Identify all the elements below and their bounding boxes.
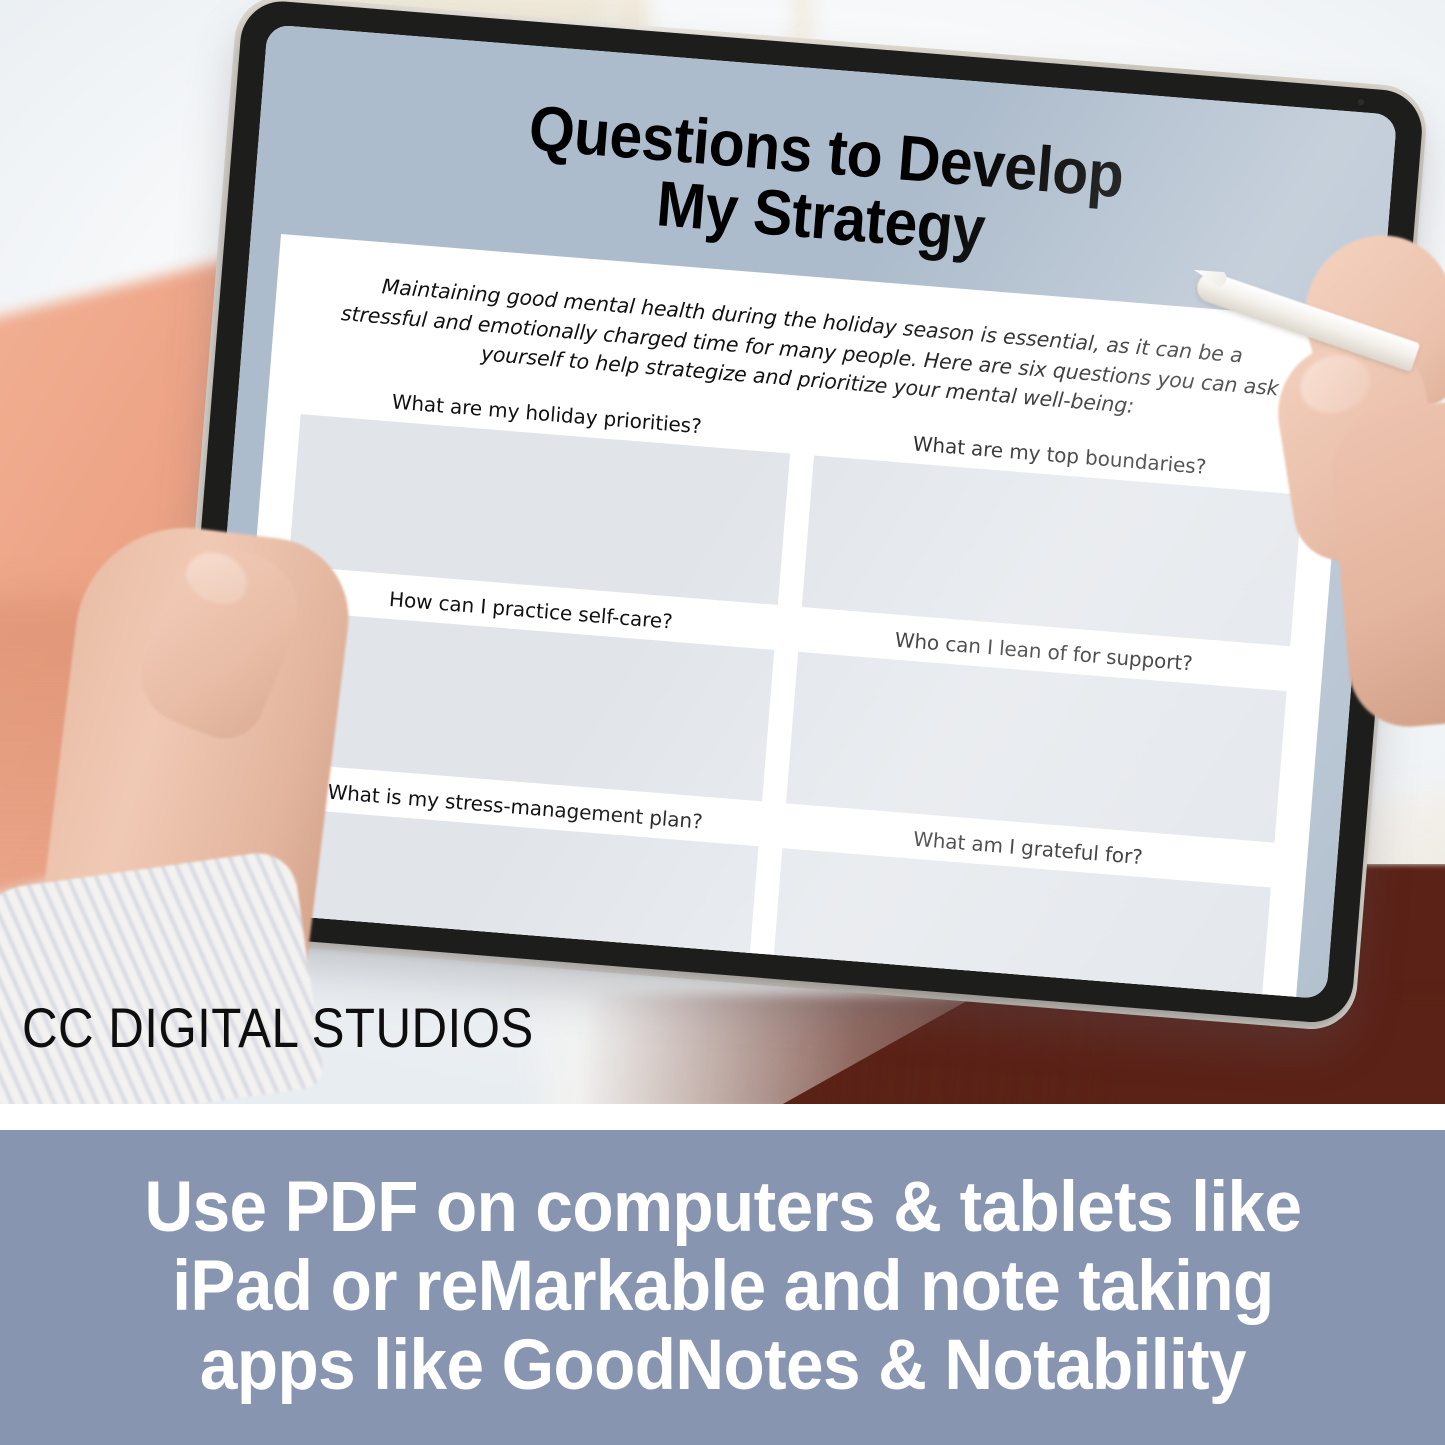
- left-sleeve: [0, 848, 325, 1104]
- promo-banner: Use PDF on computers & tablets like iPad…: [0, 1130, 1445, 1445]
- question-cell-2: What are my top boundaries?: [801, 417, 1305, 647]
- lifestyle-photo: Questions to Develop My Strategy Maintai…: [0, 0, 1445, 1104]
- brand-watermark: CC DIGITAL STUDIOS: [22, 995, 534, 1060]
- promo-banner-text: Use PDF on computers & tablets like iPad…: [78, 1169, 1368, 1405]
- worksheet-card: Maintaining good mental health during th…: [223, 234, 1350, 999]
- right-hand-knuckles: [1326, 396, 1445, 731]
- section-divider: [0, 1104, 1445, 1130]
- promo-line-1: Use PDF on computers & tablets like: [110, 1169, 1335, 1248]
- product-mockup-canvas: Questions to Develop My Strategy Maintai…: [0, 0, 1445, 1445]
- promo-line-2: iPad or reMarkable and note taking: [110, 1248, 1335, 1327]
- left-hand: [60, 470, 390, 1030]
- question-cell-4: Who can I lean of for support?: [785, 613, 1289, 843]
- questions-grid: What are my holiday priorities? What are…: [257, 375, 1306, 999]
- promo-line-3: apps like GoodNotes & Notability: [110, 1327, 1335, 1406]
